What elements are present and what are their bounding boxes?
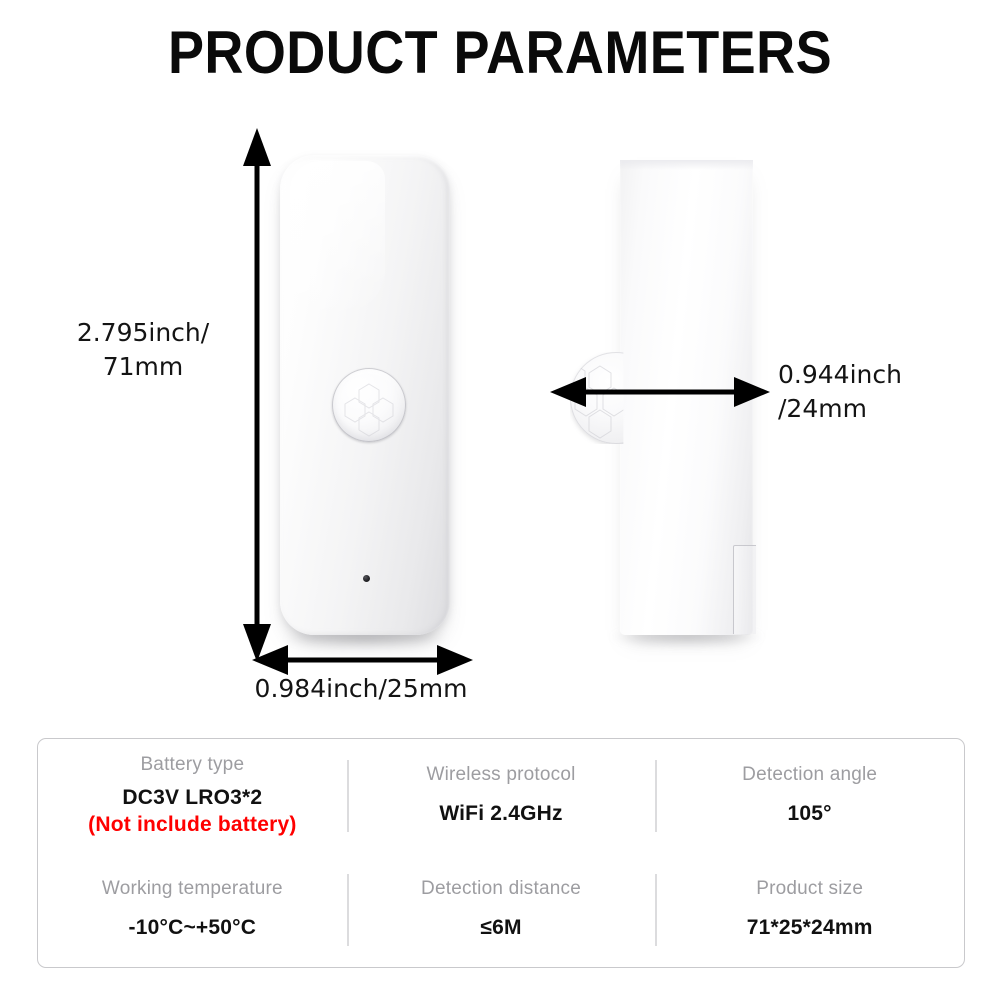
width-dimension-label: 0.984inch/25mm: [216, 672, 506, 706]
spec-table: Battery type DC3V LRO3*2 (Not include ba…: [37, 738, 965, 968]
spec-cell-product-size: Product size 71*25*24mm: [655, 853, 964, 967]
spec-row: Battery type DC3V LRO3*2 (Not include ba…: [38, 739, 964, 853]
spec-value: DC3V LRO3*2: [122, 784, 262, 811]
led-indicator-icon: [363, 575, 370, 582]
spec-cell-working-temperature: Working temperature -10°C~+50°C: [38, 853, 347, 967]
battery-door-seam: [733, 545, 756, 634]
width-dimension-arrow: [252, 645, 473, 675]
spec-cell-detection-distance: Detection distance ≤6M: [347, 853, 656, 967]
pir-lens-icon: [332, 368, 406, 442]
spec-label: Working temperature: [102, 878, 283, 900]
height-dimension-label: 2.795inch/ 71mm: [48, 316, 238, 384]
spec-cell-wireless-protocol: Wireless protocol WiFi 2.4GHz: [347, 739, 656, 853]
height-dimension-arrow: [243, 128, 271, 662]
spec-value: 71*25*24mm: [747, 914, 873, 941]
spec-label: Wireless protocol: [426, 764, 575, 786]
spec-label: Detection angle: [742, 764, 877, 786]
product-illustration: 2.795inch/ 71mm 0.984inch/25mm 0.944inch…: [0, 0, 1000, 730]
spec-cell-battery-type: Battery type DC3V LRO3*2 (Not include ba…: [38, 739, 347, 853]
spec-row: Working temperature -10°C~+50°C Detectio…: [38, 853, 964, 967]
spec-label: Detection distance: [421, 878, 581, 900]
spec-value: WiFi 2.4GHz: [439, 800, 562, 827]
spec-value: -10°C~+50°C: [129, 914, 257, 941]
spec-label: Battery type: [140, 754, 244, 776]
spec-cell-detection-angle: Detection angle 105°: [655, 739, 964, 853]
spec-note: (Not include battery): [88, 811, 296, 838]
spec-label: Product size: [756, 878, 863, 900]
depth-dimension-label: 0.944inch /24mm: [778, 358, 978, 426]
spec-value: ≤6M: [480, 914, 521, 941]
spec-value: 105°: [788, 800, 832, 827]
